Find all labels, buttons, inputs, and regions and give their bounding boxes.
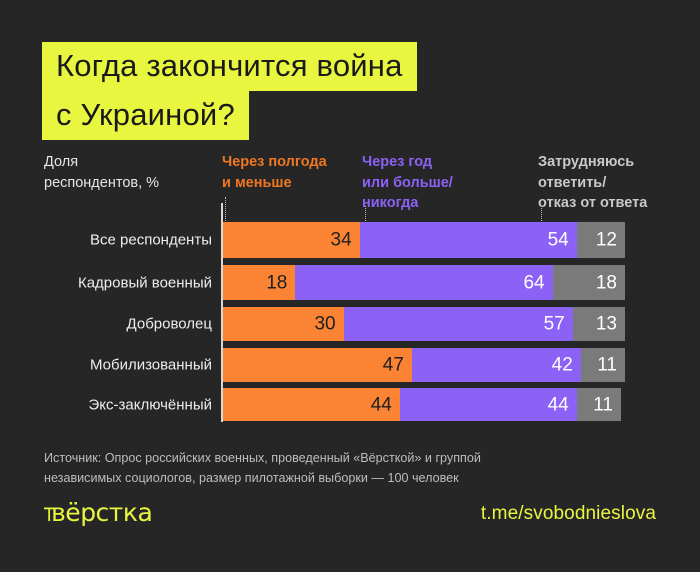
logo-mark: т xyxy=(44,498,55,527)
chart-segment-c: 11 xyxy=(581,348,625,382)
chart-row: Мобилизованный474211 xyxy=(0,348,700,382)
chart-row-bars: 474211 xyxy=(223,348,625,382)
chart-segment-value: 12 xyxy=(596,231,617,250)
chart-segment-c: 12 xyxy=(577,222,625,258)
chart-segment-value: 11 xyxy=(593,395,613,414)
chart-segment-value: 54 xyxy=(548,231,569,250)
source-note-line-1: Источник: Опрос российских военных, пров… xyxy=(44,449,644,469)
chart-segment-value: 44 xyxy=(371,395,392,414)
chart-row-label: Мобилизованный xyxy=(20,357,212,374)
chart-row-label: Экс-заключённый xyxy=(20,396,212,413)
chart-segment-value: 57 xyxy=(544,315,565,334)
chart-segment-b: 54 xyxy=(360,222,577,258)
chart-segment-value: 47 xyxy=(383,356,404,375)
chart-segment-a: 30 xyxy=(223,307,344,341)
chart-row-bars: 444411 xyxy=(223,388,625,421)
chart-row-label: Все респонденты xyxy=(20,232,212,249)
chart-segment-b: 64 xyxy=(295,265,552,300)
chart-segment-value: 18 xyxy=(266,273,287,292)
chart-row: Экс-заключённый444411 xyxy=(0,388,700,421)
chart-segment-value: 13 xyxy=(596,315,617,334)
chart-segment-b: 57 xyxy=(344,307,573,341)
infographic-canvas: Когда закончится война с Украиной? Доля … xyxy=(0,0,700,572)
chart-segment-a: 34 xyxy=(223,222,360,258)
chart-segment-c: 11 xyxy=(577,388,621,421)
chart-row-label: Кадровый военный xyxy=(20,274,212,291)
telegram-handle[interactable]: t.me/svobodnieslova xyxy=(481,503,656,525)
source-note: Источник: Опрос российских военных, пров… xyxy=(44,449,644,488)
chart-segment-a: 47 xyxy=(223,348,412,382)
chart-segment-value: 44 xyxy=(548,395,569,414)
chart-segment-c: 13 xyxy=(573,307,625,341)
chart-row-bars: 345412 xyxy=(223,222,625,258)
chart-row-label: Доброволец xyxy=(20,316,212,333)
chart-segment-c: 18 xyxy=(553,265,625,300)
chart-segment-b: 42 xyxy=(412,348,581,382)
chart-segment-value: 30 xyxy=(314,315,335,334)
chart-row: Все респонденты345412 xyxy=(0,222,700,258)
chart-row-bars: 305713 xyxy=(223,307,625,341)
chart-segment-a: 44 xyxy=(223,388,400,421)
chart-row: Доброволец305713 xyxy=(0,307,700,341)
chart-segment-value: 64 xyxy=(523,273,544,292)
source-note-line-2: независимых социологов, размер пилотажно… xyxy=(44,469,644,489)
chart-segment-b: 44 xyxy=(400,388,577,421)
chart-segment-value: 34 xyxy=(331,231,352,250)
chart-segment-value: 11 xyxy=(597,356,617,375)
chart-segment-a: 18 xyxy=(223,265,295,300)
chart-row-bars: 186418 xyxy=(223,265,625,300)
chart-segment-value: 18 xyxy=(596,273,617,292)
chart-segment-value: 42 xyxy=(552,356,573,375)
logo-text: вёрстка xyxy=(51,498,152,527)
chart-row: Кадровый военный186418 xyxy=(0,265,700,300)
verstka-logo: твёрстка xyxy=(42,498,152,527)
